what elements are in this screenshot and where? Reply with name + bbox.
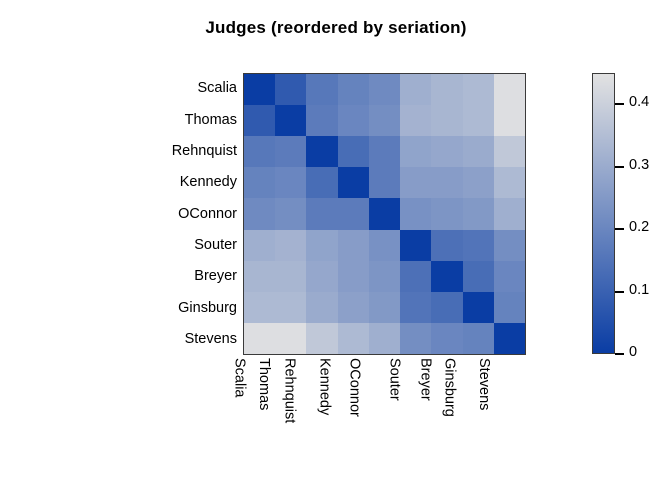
heatmap-cell [275, 74, 306, 105]
colorbar-tick-mark [615, 103, 624, 105]
colorbar-tick-mark [615, 166, 624, 168]
chart-title: Judges (reordered by seriation) [0, 18, 672, 38]
colorbar-tick-mark [615, 353, 624, 355]
heatmap-cell [400, 323, 431, 354]
colorbar-tick-label: 0 [629, 345, 637, 360]
heatmap-cell [244, 323, 275, 354]
heatmap-cell [244, 292, 275, 323]
heatmap-cell [494, 167, 525, 198]
heatmap-cell [400, 167, 431, 198]
heatmap-cell [463, 74, 494, 105]
heatmap-cell [244, 74, 275, 105]
y-axis-tick-label: Ginsburg [120, 292, 237, 323]
heatmap-cell [369, 105, 400, 136]
heatmap-cell [431, 136, 462, 167]
heatmap-cell [338, 230, 369, 261]
heatmap-cell [306, 292, 337, 323]
heatmap-cell [400, 230, 431, 261]
heatmap-cell [275, 167, 306, 198]
x-axis-tick-label: Kennedy [317, 358, 332, 415]
y-axis-tick-label: Stevens [120, 324, 237, 355]
heatmap-cell [463, 292, 494, 323]
heatmap-cell [463, 136, 494, 167]
heatmap-cell [275, 292, 306, 323]
heatmap-cell [306, 74, 337, 105]
heatmap-cell [431, 230, 462, 261]
heatmap-cell [369, 167, 400, 198]
colorbar-tick-mark [615, 291, 624, 293]
heatmap-cell [338, 198, 369, 229]
y-axis-tick-label: Breyer [120, 261, 237, 292]
heatmap-cell [431, 198, 462, 229]
colorbar-ticks: 00.10.20.30.4 [615, 73, 671, 354]
heatmap-cell [494, 323, 525, 354]
heatmap-cell [338, 74, 369, 105]
heatmap-cell [338, 261, 369, 292]
x-axis-tick-label: Souter [387, 358, 402, 401]
heatmap-cell [431, 105, 462, 136]
heatmap-cell [306, 323, 337, 354]
heatmap-cell [494, 292, 525, 323]
heatmap-cell [369, 292, 400, 323]
colorbar-tick-label: 0.2 [629, 220, 649, 235]
heatmap-cell [244, 105, 275, 136]
heatmap-cell [463, 198, 494, 229]
heatmap-cell [338, 323, 369, 354]
heatmap-cell [275, 105, 306, 136]
heatmap-cell [369, 136, 400, 167]
colorbar-tick-mark [615, 228, 624, 230]
heatmap-cell [463, 105, 494, 136]
heatmap-cell [494, 74, 525, 105]
heatmap-cell [400, 105, 431, 136]
y-axis-tick-label: Rehnquist [120, 136, 237, 167]
heatmap-cell [431, 292, 462, 323]
heatmap-cell [306, 230, 337, 261]
colorbar-tick-label: 0.1 [629, 283, 649, 298]
heatmap-cell [244, 230, 275, 261]
x-axis-tick-label: Ginsburg [442, 358, 457, 417]
heatmap-cell [275, 261, 306, 292]
heatmap-cell [369, 230, 400, 261]
heatmap-cell [463, 230, 494, 261]
chart-canvas: Judges (reordered by seriation) ScaliaTh… [0, 0, 672, 480]
heatmap-cell [400, 74, 431, 105]
heatmap-cell [338, 136, 369, 167]
heatmap-cell [463, 167, 494, 198]
heatmap-cell [431, 74, 462, 105]
heatmap-cell [400, 198, 431, 229]
heatmap-cell [494, 198, 525, 229]
heatmap-cell [431, 167, 462, 198]
heatmap-cell [400, 292, 431, 323]
heatmap-cell [244, 198, 275, 229]
heatmap-cell [244, 167, 275, 198]
x-axis-tick-label: Breyer [418, 358, 433, 401]
heatmap-cell [369, 323, 400, 354]
heatmap-cell [306, 136, 337, 167]
heatmap-cell [244, 261, 275, 292]
heatmap-cell [275, 198, 306, 229]
heatmap-cell [494, 105, 525, 136]
x-axis-tick-label: Stevens [477, 358, 492, 410]
y-axis-tick-label: OConnor [120, 198, 237, 229]
heatmap-cell [494, 136, 525, 167]
y-axis-tick-label: Souter [120, 230, 237, 261]
heatmap-cell [369, 261, 400, 292]
heatmap-cell [494, 230, 525, 261]
heatmap-cell [431, 323, 462, 354]
colorbar-gradient [593, 74, 614, 353]
heatmap-cell [369, 74, 400, 105]
heatmap-cell [306, 105, 337, 136]
heatmap-cell [369, 198, 400, 229]
x-axis-labels: ScaliaThomasRehnquistKennedyOConnorSoute… [243, 358, 526, 468]
x-axis-tick-label: OConnor [348, 358, 363, 417]
x-axis-tick-slot: Stevens [495, 358, 526, 468]
heatmap-cell [275, 230, 306, 261]
y-axis-tick-label: Scalia [120, 73, 237, 104]
heatmap-grid [244, 74, 525, 354]
heatmap-cell [431, 261, 462, 292]
colorbar [592, 73, 615, 354]
y-axis-labels: ScaliaThomasRehnquistKennedyOConnorSoute… [120, 73, 237, 355]
heatmap-cell [338, 105, 369, 136]
heatmap-cell [306, 198, 337, 229]
colorbar-tick-label: 0.3 [629, 158, 649, 173]
heatmap-cell [400, 261, 431, 292]
colorbar-tick-label: 0.4 [629, 95, 649, 110]
x-axis-tick-label: Thomas [256, 358, 271, 410]
heatmap-cell [275, 323, 306, 354]
heatmap-plot-area [243, 73, 526, 355]
y-axis-tick-label: Kennedy [120, 167, 237, 198]
heatmap-cell [275, 136, 306, 167]
x-axis-tick-label: Scalia [231, 358, 246, 398]
heatmap-cell [306, 167, 337, 198]
heatmap-cell [463, 261, 494, 292]
heatmap-cell [306, 261, 337, 292]
heatmap-cell [400, 136, 431, 167]
heatmap-cell [494, 261, 525, 292]
x-axis-tick-label: Rehnquist [281, 358, 296, 423]
heatmap-cell [338, 167, 369, 198]
heatmap-cell [244, 136, 275, 167]
heatmap-cell [338, 292, 369, 323]
y-axis-tick-label: Thomas [120, 104, 237, 135]
heatmap-cell [463, 323, 494, 354]
